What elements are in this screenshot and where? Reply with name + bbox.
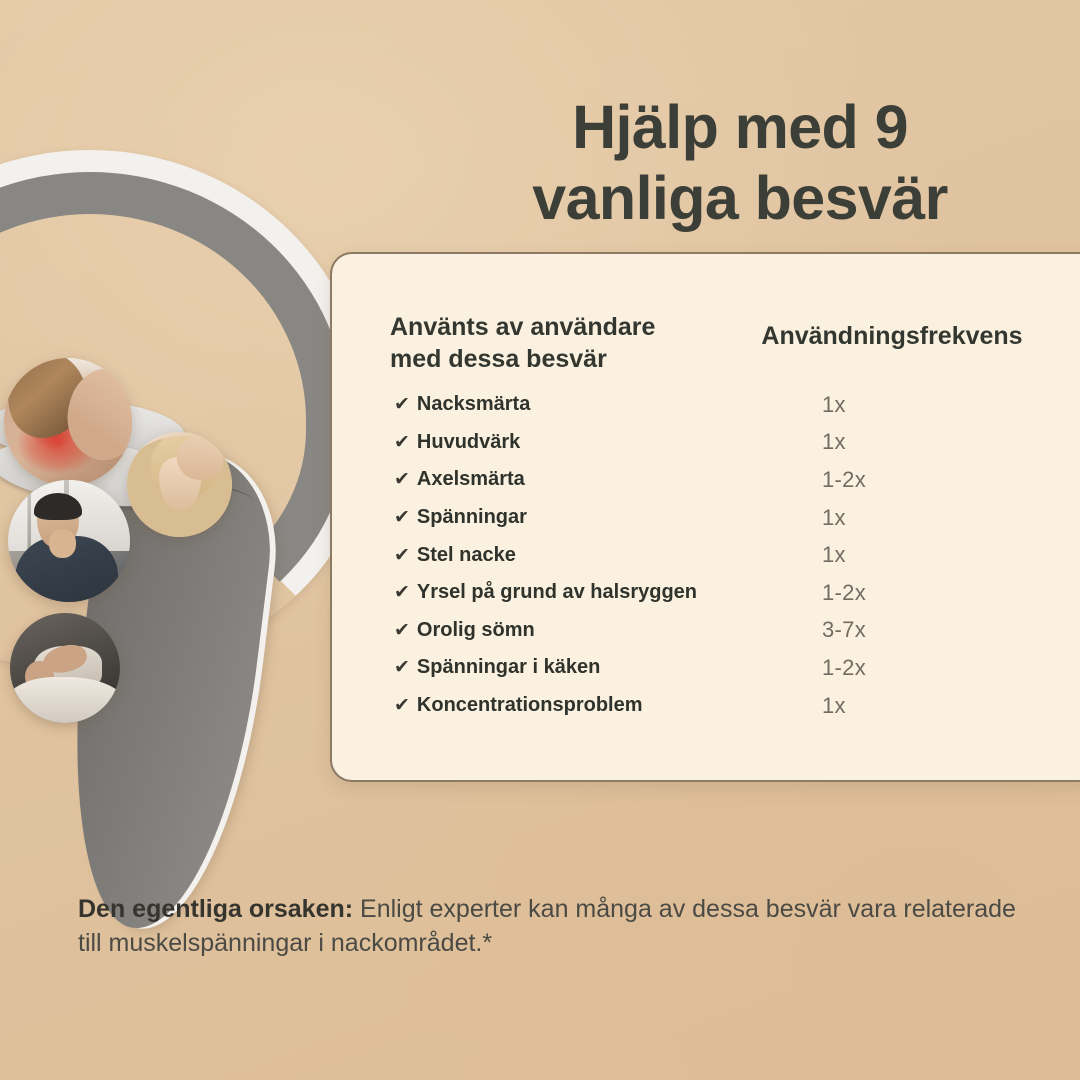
footer-note: Den egentliga orsaken: Enligt experter k…	[78, 893, 1018, 960]
frequency-value: 1x	[822, 542, 942, 568]
frequency-value: 1-2x	[822, 655, 942, 681]
stressed-man-photo	[8, 480, 130, 602]
page-title-line-2: vanliga besvär	[440, 163, 1040, 234]
table-row: ✔ Spänningar 1x	[332, 499, 1080, 537]
symptom-label: Yrsel på grund av halsryggen	[417, 581, 697, 604]
check-icon: ✔	[394, 696, 410, 715]
check-icon: ✔	[394, 658, 410, 677]
symptoms-list: ✔ Nacksmärta 1x ✔ Huvudvärk 1x ✔ Axelsmä…	[332, 386, 1080, 724]
check-icon: ✔	[394, 546, 410, 565]
symptom-label: Nacksmärta	[417, 393, 530, 416]
column-header-symptoms-line-1: Använts av användare	[390, 312, 720, 344]
frequency-value: 1-2x	[822, 580, 942, 606]
table-row: ✔ Huvudvärk 1x	[332, 424, 1080, 462]
frequency-value: 1x	[822, 693, 942, 719]
table-row: ✔ Yrsel på grund av halsryggen 1-2x	[332, 574, 1080, 612]
headache-photo	[127, 432, 232, 537]
table-row: ✔ Nacksmärta 1x	[332, 386, 1080, 424]
column-header-frequency: Användningsfrekvens	[732, 322, 1052, 351]
frequency-value: 1x	[822, 392, 942, 418]
table-row: ✔ Axelsmärta 1-2x	[332, 461, 1080, 499]
symptom-label: Huvudvärk	[417, 431, 520, 454]
symptom-label: Koncentrationsproblem	[417, 694, 643, 717]
page-title-line-1: Hjälp med 9	[440, 92, 1040, 163]
symptom-label: Spänningar i käken	[417, 656, 600, 679]
symptom-label: Spänningar	[417, 506, 527, 529]
symptoms-card: Använts av användare med dessa besvär An…	[330, 252, 1080, 782]
symptom-label: Orolig sömn	[417, 619, 535, 642]
footer-note-bold: Den egentliga orsaken:	[78, 895, 353, 923]
check-icon: ✔	[394, 583, 410, 602]
frequency-value: 3-7x	[822, 617, 942, 643]
check-icon: ✔	[394, 621, 410, 640]
check-icon: ✔	[394, 433, 410, 452]
insomnia-photo	[10, 613, 120, 723]
table-row: ✔ Spänningar i käken 1-2x	[332, 649, 1080, 687]
table-row: ✔ Stel nacke 1x	[332, 536, 1080, 574]
table-row: ✔ Orolig sömn 3-7x	[332, 612, 1080, 650]
check-icon: ✔	[394, 508, 410, 527]
symptom-label: Stel nacke	[417, 544, 516, 567]
frequency-value: 1-2x	[822, 467, 942, 493]
frequency-value: 1x	[822, 429, 942, 455]
page-title: Hjälp med 9 vanliga besvär	[440, 92, 1040, 235]
neck-pain-photo	[4, 358, 132, 486]
column-header-symptoms: Använts av användare med dessa besvär	[390, 312, 720, 375]
check-icon: ✔	[394, 395, 410, 414]
column-header-symptoms-line-2: med dessa besvär	[390, 344, 720, 376]
symptom-label: Axelsmärta	[417, 468, 525, 491]
check-icon: ✔	[394, 470, 410, 489]
frequency-value: 1x	[822, 505, 942, 531]
table-row: ✔ Koncentrationsproblem 1x	[332, 687, 1080, 725]
